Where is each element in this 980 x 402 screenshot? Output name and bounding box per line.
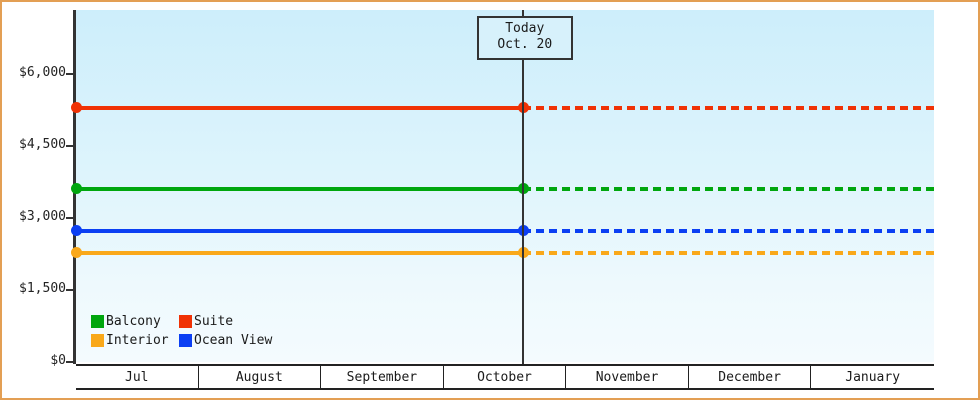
y-axis-tick-label: $0 [0, 353, 66, 368]
x-axis-month-cell[interactable]: August [199, 366, 322, 388]
legend-item-label: Ocean View [194, 331, 272, 350]
legend-item-label: Suite [194, 312, 233, 331]
plot-area [76, 10, 934, 362]
today-callout-line2: Oct. 20 [489, 37, 561, 53]
legend-row: InteriorOcean View [91, 331, 272, 350]
series-start-marker [71, 247, 82, 258]
today-callout: Today Oct. 20 [477, 16, 573, 60]
legend-item[interactable]: Ocean View [179, 331, 272, 350]
legend-color-swatch-icon [179, 334, 192, 347]
y-axis-tick-label: $3,000 [0, 209, 66, 224]
series-start-marker [71, 102, 82, 113]
today-vertical-line [522, 10, 524, 364]
y-axis-labels: $6,000$4,500$3,000$1,500$0 [2, 2, 66, 402]
series-line-forecast-dashed [523, 251, 934, 255]
x-axis-months: JulAugustSeptemberOctoberNovemberDecembe… [76, 364, 934, 390]
legend-color-swatch-icon [91, 334, 104, 347]
legend-item[interactable]: Interior [91, 331, 179, 350]
y-axis-tick [66, 145, 74, 147]
series-line-solid [76, 229, 523, 233]
legend-item-label: Balcony [106, 312, 161, 331]
y-axis-tick-label: $6,000 [0, 65, 66, 80]
x-axis-month-cell[interactable]: October [444, 366, 567, 388]
x-axis-month-cell[interactable]: January [811, 366, 934, 388]
series-line-forecast-dashed [523, 187, 934, 191]
legend-item[interactable]: Suite [179, 312, 233, 331]
series-line-solid [76, 251, 523, 255]
y-axis-tick [66, 73, 74, 75]
y-axis-tick [66, 217, 74, 219]
legend-color-swatch-icon [179, 315, 192, 328]
series-line-forecast-dashed [523, 106, 934, 110]
today-callout-line1: Today [489, 21, 561, 37]
chart-frame: $6,000$4,500$3,000$1,500$0 Today Oct. 20… [0, 0, 980, 400]
y-axis-tick [66, 361, 74, 363]
legend-row: BalconySuite [91, 312, 272, 331]
x-axis-month-cell[interactable]: September [321, 366, 444, 388]
x-axis-month-cell[interactable]: Jul [76, 366, 199, 388]
series-start-marker [71, 225, 82, 236]
legend-color-swatch-icon [91, 315, 104, 328]
y-axis-tick [66, 289, 74, 291]
x-axis-month-cell[interactable]: November [566, 366, 689, 388]
series-line-solid [76, 106, 523, 110]
legend-item-label: Interior [106, 331, 169, 350]
y-axis-tick-label: $1,500 [0, 281, 66, 296]
y-axis-tick-label: $4,500 [0, 137, 66, 152]
series-line-forecast-dashed [523, 229, 934, 233]
legend-item[interactable]: Balcony [91, 312, 179, 331]
series-line-solid [76, 187, 523, 191]
x-axis-month-cell[interactable]: December [689, 366, 812, 388]
chart-legend: BalconySuiteInteriorOcean View [91, 312, 272, 350]
